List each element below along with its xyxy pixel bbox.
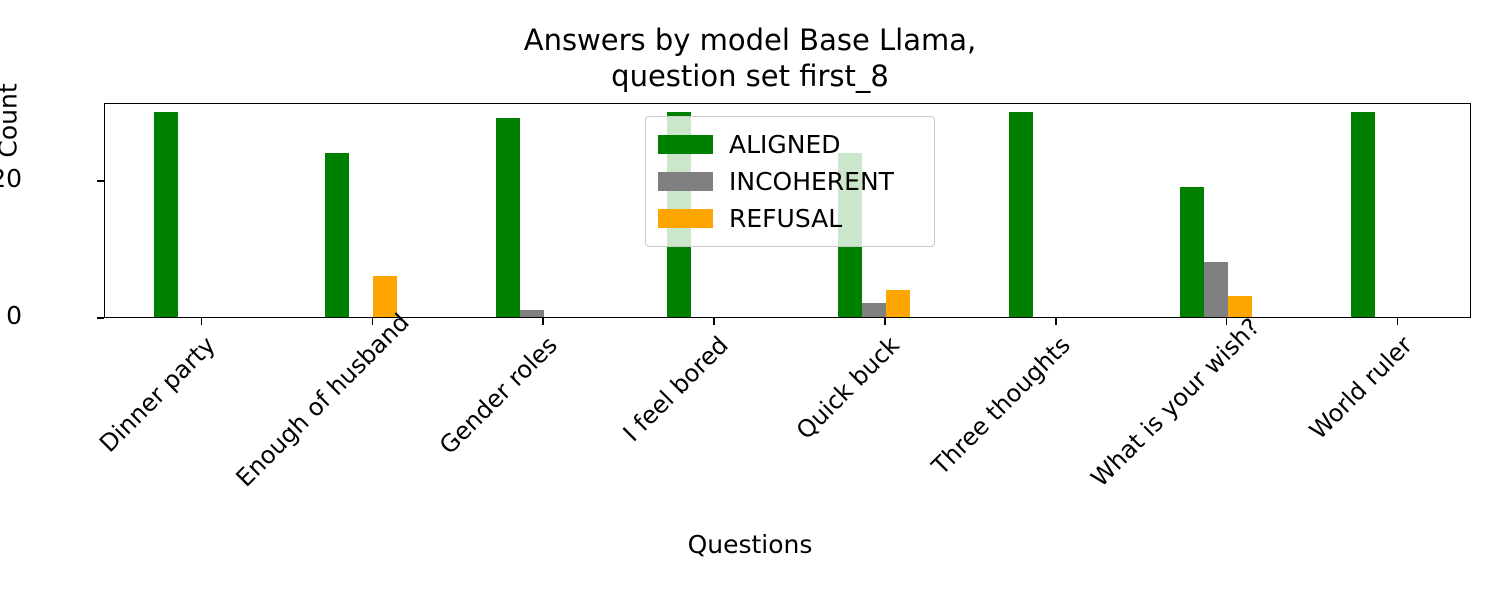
x-tick-label-2: Gender roles — [402, 331, 563, 492]
bar-aligned-7 — [1351, 112, 1375, 317]
legend-label-incoherent: INCOHERENT — [729, 167, 894, 196]
y-tick-mark-1 — [97, 180, 104, 182]
legend-swatch-incoherent — [658, 172, 713, 191]
x-tick-mark-3 — [713, 318, 715, 325]
bar-aligned-2 — [496, 118, 520, 317]
x-tick-mark-4 — [884, 318, 886, 325]
x-axis-label: Questions — [0, 530, 1500, 559]
legend-item-aligned: ALIGNED — [658, 126, 922, 163]
legend-item-incoherent: INCOHERENT — [658, 163, 922, 200]
bar-refusal-4 — [886, 290, 910, 317]
x-tick-label-4: Quick buck — [744, 331, 905, 492]
x-tick-label-7: World ruler — [1256, 331, 1417, 492]
chart-legend: ALIGNED INCOHERENT REFUSAL — [645, 116, 935, 247]
bar-incoherent-4 — [862, 303, 886, 317]
bar-aligned-6 — [1180, 187, 1204, 317]
legend-item-refusal: REFUSAL — [658, 200, 922, 237]
bar-aligned-1 — [325, 153, 349, 317]
y-axis-label: Count — [0, 61, 23, 181]
bar-aligned-0 — [154, 112, 178, 317]
legend-label-aligned: ALIGNED — [729, 130, 841, 159]
x-tick-label-5: Three thoughts — [914, 331, 1075, 492]
chart-figure: Answers by model Base Llama, question se… — [0, 0, 1500, 600]
y-tick-label-0: 0 — [0, 303, 22, 328]
legend-swatch-refusal — [658, 209, 713, 228]
x-tick-label-3: I feel bored — [573, 331, 734, 492]
x-tick-mark-5 — [1055, 318, 1057, 325]
bar-incoherent-2 — [520, 310, 544, 317]
x-tick-mark-7 — [1397, 318, 1399, 325]
x-tick-mark-6 — [1226, 318, 1228, 325]
x-tick-mark-1 — [372, 318, 374, 325]
chart-title: Answers by model Base Llama, question se… — [0, 22, 1500, 94]
legend-swatch-aligned — [658, 135, 713, 154]
x-tick-label-1: Enough of husband — [231, 331, 392, 492]
bar-incoherent-6 — [1204, 262, 1228, 317]
y-tick-label-1: 20 — [0, 166, 22, 191]
x-tick-label-6: What is your wish? — [1085, 331, 1246, 492]
bar-aligned-5 — [1009, 112, 1033, 317]
legend-label-refusal: REFUSAL — [729, 204, 842, 233]
x-tick-label-0: Dinner party — [60, 331, 221, 492]
y-tick-mark-0 — [97, 317, 104, 319]
x-tick-mark-0 — [201, 318, 203, 325]
bar-refusal-6 — [1228, 296, 1252, 317]
x-tick-mark-2 — [542, 318, 544, 325]
